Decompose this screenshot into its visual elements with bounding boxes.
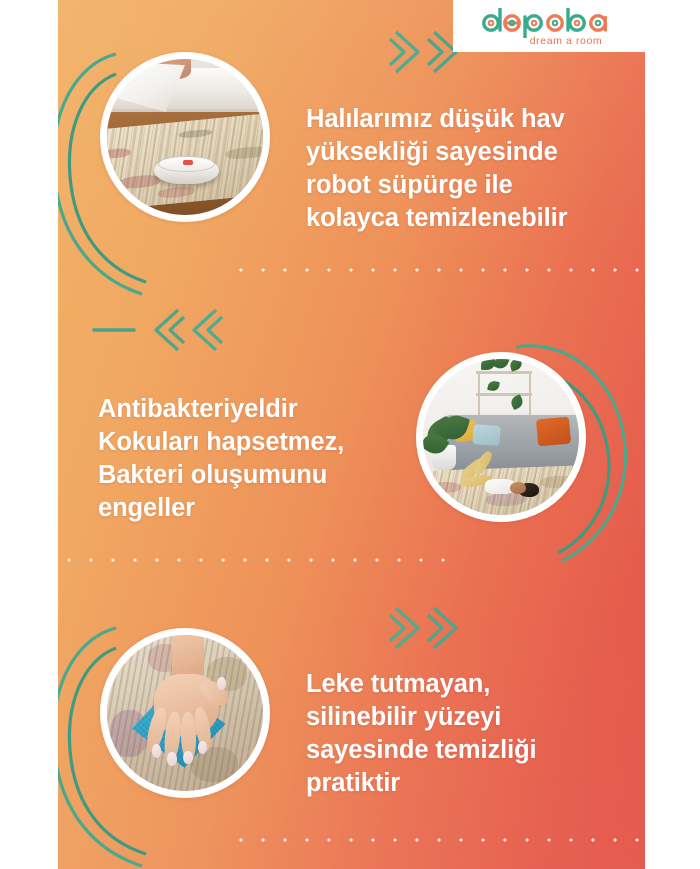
logo-letter-e [505, 15, 519, 29]
section-divider-2 [58, 558, 458, 562]
hand [148, 635, 229, 763]
caption-line: kolayca temizlenebilir [306, 202, 636, 235]
caption-line: silinebilir yüzeyi [306, 701, 626, 734]
caption-line: engeller [98, 492, 398, 525]
logo-wordmark [479, 8, 619, 38]
caption-line: Leke tutmayan, [306, 668, 626, 701]
caption-line: pratiktir [306, 767, 626, 800]
caption-line: robot süpürge ile [306, 169, 636, 202]
robot-vacuum-photo [107, 59, 263, 215]
section-divider-3 [230, 838, 645, 842]
feature-image-2 [416, 352, 586, 522]
caption-line: Kokuları hapsetmez, [98, 426, 398, 459]
brand-logo[interactable]: dream a room [453, 0, 645, 52]
caption-line: sayesinde temizliği [306, 734, 626, 767]
caption-line: Halılarımız düşük hav [306, 103, 636, 136]
feature-image-1 [100, 52, 270, 222]
feature-caption-2: Antibakteriyeldir Kokuları hapsetmez, Ba… [98, 393, 398, 526]
person-on-rug [457, 453, 544, 503]
logo-letter-a [591, 15, 606, 29]
feature-section-3: Leke tutmayan, silinebilir yüzeyi sayesi… [58, 580, 645, 869]
feature-caption-1: Halılarımız düşük hav yüksekliği sayesin… [306, 103, 636, 236]
living-room-photo [423, 359, 579, 515]
logo-wordmark-svg [479, 8, 619, 38]
feature-caption-3: Leke tutmayan, silinebilir yüzeyi sayesi… [306, 668, 626, 801]
logo-letter-d [484, 9, 500, 30]
section-divider-1 [230, 268, 645, 272]
caption-line: Antibakteriyeldir [98, 393, 398, 426]
infographic-page: dream a room [0, 0, 700, 869]
gradient-panel: dream a room [58, 0, 645, 869]
caption-line: Bakteri oluşumunu [98, 459, 398, 492]
feature-image-3 [100, 628, 270, 798]
logo-letter-o [548, 15, 562, 29]
caption-line: yüksekliği sayesinde [306, 136, 636, 169]
feature-section-2: Antibakteriyeldir Kokuları hapsetmez, Ba… [58, 290, 645, 580]
hand-wiping-photo [107, 635, 263, 791]
logo-letter-b [568, 9, 584, 30]
logo-tagline: dream a room [530, 35, 603, 47]
